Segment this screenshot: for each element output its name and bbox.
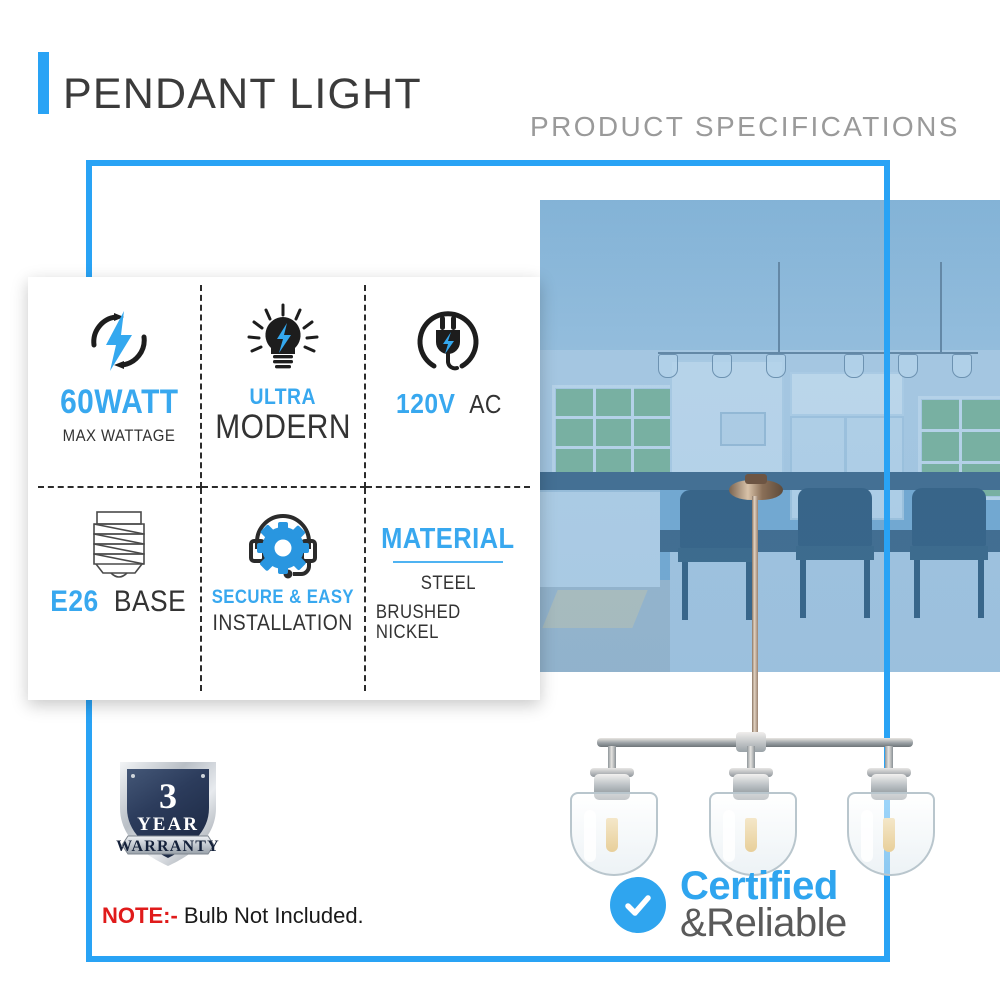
- certified-reliable-badge: Certified &Reliable: [610, 868, 847, 942]
- infographic-canvas: PENDANT LIGHT PRODUCT SPECIFICATIONS: [0, 0, 1000, 1000]
- note-label: NOTE:-: [102, 903, 178, 928]
- spec-cell-voltage: 120V AC: [366, 285, 530, 488]
- spec-primary-label: SECURE & EASY: [212, 588, 354, 608]
- check-circle-icon: [610, 877, 666, 933]
- spec-secondary-label: MODERN: [215, 410, 351, 446]
- certified-line-2: &Reliable: [680, 905, 847, 942]
- warranty-badge: 3 YEAR WARRANTY: [112, 752, 224, 872]
- note-text: Bulb Not Included.: [184, 903, 364, 928]
- fixture-filament-bulb: [883, 818, 895, 852]
- specifications-card: 60WATT MAX WATTAGE: [28, 277, 540, 700]
- spec-secondary-label: MAX WATTAGE: [63, 427, 176, 445]
- power-plug-circle-icon: [410, 299, 486, 383]
- fixture-shade-highlight: [723, 810, 735, 862]
- specs-heading: PRODUCT SPECIFICATIONS: [530, 112, 960, 142]
- title-accent-bar: [38, 52, 49, 114]
- svg-text:WARRANTY: WARRANTY: [116, 838, 220, 855]
- e26-screw-base-icon: [77, 502, 161, 586]
- fixture-filament-bulb: [606, 818, 618, 852]
- fixture-shade-highlight: [584, 810, 596, 862]
- spec-secondary-label: BASE: [114, 586, 186, 618]
- spec-secondary-label: AC: [469, 391, 502, 418]
- spec-cell-base-type: E26 BASE: [38, 488, 202, 691]
- spec-primary-label: ULTRA: [250, 385, 316, 408]
- spec-secondary-label: INSTALLATION: [213, 611, 353, 634]
- certified-line-1: Certified: [680, 868, 847, 905]
- fixture-downrod: [752, 496, 758, 746]
- spec-cell-max-wattage: 60WATT MAX WATTAGE: [38, 285, 202, 488]
- specifications-grid: 60WATT MAX WATTAGE: [38, 285, 530, 691]
- fixture-filament-bulb: [745, 818, 757, 852]
- spec-base-row: E26 BASE: [47, 586, 191, 618]
- fixture-canopy-cap: [745, 474, 767, 484]
- power-bolt-refresh-icon: [80, 299, 158, 383]
- headset-gear-support-icon: [240, 502, 326, 586]
- spec-primary-label: 120V: [396, 389, 455, 418]
- spec-cell-installation: SECURE & EASY INSTALLATION: [202, 488, 366, 691]
- warranty-years: 3: [159, 776, 177, 816]
- spec-primary-label: 60WATT: [60, 385, 178, 421]
- svg-text:YEAR: YEAR: [137, 814, 199, 835]
- spec-secondary-label: STEEL: [420, 574, 475, 594]
- spec-cell-material: MATERIAL STEEL BRUSHED NICKEL: [366, 488, 530, 691]
- fixture-shade-highlight: [861, 810, 873, 862]
- pendant-light-product-image: [540, 470, 940, 840]
- spec-voltage-row: 120V AC: [392, 383, 504, 418]
- spec-primary-label: MATERIAL: [381, 524, 514, 554]
- certified-text: Certified &Reliable: [680, 868, 847, 942]
- lightbulb-rays-icon: [244, 299, 322, 383]
- spec-tertiary-label: BRUSHED NICKEL: [376, 603, 520, 643]
- note-line: NOTE:- Bulb Not Included.: [102, 903, 364, 929]
- page-title: PENDANT LIGHT: [63, 72, 422, 116]
- material-underline: [393, 561, 503, 563]
- spec-cell-ultra-modern: ULTRA MODERN: [202, 285, 366, 488]
- spec-primary-label: E26: [50, 586, 98, 618]
